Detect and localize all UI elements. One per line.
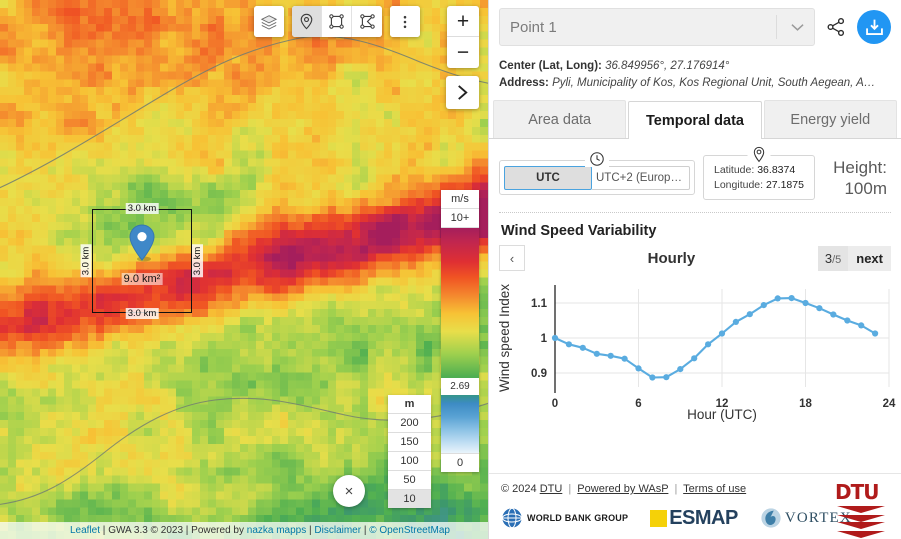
wind-legend-pointer: 2.69 [441, 378, 479, 395]
svg-text:6: 6 [635, 398, 641, 410]
layers-icon [260, 13, 278, 31]
panel-tabs: Area data Temporal data Energy yield [489, 100, 901, 139]
latitude-value: 36.8374 [757, 164, 795, 176]
latitude-label: Latitude: [714, 164, 754, 176]
layers-button[interactable] [254, 6, 284, 37]
height-label: Height: [833, 157, 887, 178]
map-marker-icon[interactable] [129, 224, 155, 267]
dtu-logo-label: DTU [835, 482, 887, 502]
zoom-controls: + − [447, 6, 479, 68]
dtu-link[interactable]: DTU [540, 483, 563, 495]
center-line: Center (Lat, Long): 36.849956°, 27.17691… [499, 58, 891, 75]
svg-text:Wind speed Index: Wind speed Index [497, 284, 512, 392]
place-point-button[interactable] [292, 6, 322, 37]
elevation-option-100[interactable]: 100 [388, 452, 431, 471]
more-options-group [390, 6, 420, 37]
rectangle-select-button[interactable] [322, 6, 352, 37]
selection-edge-bottom-label: 3.0 km [126, 308, 159, 319]
tab-area-data[interactable]: Area data [493, 100, 626, 138]
wind-legend-min: 0 [441, 453, 479, 472]
attr-sep-1: | [100, 525, 108, 536]
share-icon [826, 17, 846, 37]
pager-next-label: next [848, 246, 891, 271]
wind-legend-unit: m/s [441, 190, 479, 209]
selection-edge-left-label: 3.0 km [81, 245, 92, 278]
download-icon [864, 17, 885, 38]
tab-energy-yield[interactable]: Energy yield [764, 100, 897, 138]
elevation-option-150[interactable]: 150 [388, 433, 431, 452]
wind-speed-legend: m/s 10+ 2.69 0 [441, 190, 479, 472]
elevation-option-10[interactable]: 10 [388, 490, 431, 508]
center-value: 36.849956°, 27.176914° [605, 60, 729, 72]
app-root: 3.0 km 3.0 km 3.0 km 3.0 km 9.0 km² [0, 0, 901, 539]
dtu-bars-icon [835, 504, 887, 538]
attribution-powered-prefix: Powered by [191, 525, 247, 536]
polygon-select-button[interactable] [352, 6, 382, 37]
timezone-utc-button[interactable]: UTC [504, 166, 592, 190]
selection-area-label: 9.0 km² [122, 273, 163, 285]
copyright-line: © 2024 DTU | Powered by WAsP | Terms of … [501, 483, 889, 495]
layers-control-group [254, 6, 284, 37]
elevation-option-200[interactable]: 200 [388, 414, 431, 433]
map-attribution: Leaflet | GWA 3.3 © 2023 | Powered by na… [0, 522, 488, 539]
attribution-nazka-link[interactable]: nazka mapps [247, 525, 306, 536]
footer-sep-1: | [568, 483, 571, 495]
draw-tools-group [292, 6, 382, 37]
point-select-value: Point 1 [510, 19, 557, 36]
esmap-logo[interactable]: ESMAP [650, 507, 738, 530]
address-value: Pyli, Municipality of Kos, Kos Regional … [552, 77, 875, 89]
attribution-gwa: GWA 3.3 © 2023 [108, 525, 183, 536]
pager-next-button[interactable]: 3/5 next [818, 246, 891, 271]
wind-legend-max: 10+ [441, 209, 479, 228]
close-button[interactable]: × [333, 475, 365, 507]
timezone-local-button[interactable]: UTC+2 (Europ…) [592, 166, 690, 190]
longitude-label: Longitude: [714, 179, 763, 191]
timezone-coords-row: UTC UTC+2 (Europ…) Latitude: 36.8374 Lon… [489, 139, 901, 208]
selection-edge-top-label: 3.0 km [126, 203, 159, 214]
svg-text:24: 24 [883, 398, 896, 410]
timezone-fieldset: UTC UTC+2 (Europ…) [499, 160, 695, 195]
selection-edge-right-label: 3.0 km [193, 245, 204, 278]
point-select[interactable]: Point 1 [499, 8, 815, 46]
svg-text:18: 18 [799, 398, 812, 410]
partner-logos: WORLD BANK GROUP ESMAP VORTEX [501, 503, 889, 533]
center-label: Center (Lat, Long): [499, 60, 602, 72]
wind-speed-variability-chart: 0.911.106121824Hour (UTC)Wind speed Inde… [493, 275, 897, 425]
zoom-out-button[interactable]: − [447, 37, 479, 68]
rectangle-select-icon [328, 13, 345, 30]
pager-title: Hourly [525, 250, 818, 267]
polygon-select-icon [359, 13, 376, 30]
copyright-year: © 2024 [501, 483, 537, 495]
world-bank-group-logo[interactable]: WORLD BANK GROUP [501, 507, 628, 529]
pager-count: 3/5 [818, 246, 848, 271]
wind-legend-gradient: 2.69 [441, 228, 479, 453]
map-controls [254, 6, 420, 37]
clock-icon [585, 151, 609, 167]
chart-pager: ‹ Hourly 3/5 next [489, 243, 901, 271]
footer-sep-2: | [674, 483, 677, 495]
svg-text:1.1: 1.1 [531, 298, 548, 310]
chart-svg: 0.911.106121824Hour (UTC)Wind speed Inde… [493, 275, 898, 423]
kebab-menu-icon [397, 14, 413, 30]
chevron-right-icon [455, 84, 470, 101]
attr-sep-4: | [361, 525, 369, 536]
attribution-leaflet-link[interactable]: Leaflet [70, 525, 100, 536]
attr-sep-2: | [183, 525, 191, 536]
dtu-logo[interactable]: DTU [835, 482, 887, 539]
chevron-down-icon[interactable] [776, 15, 804, 39]
section-title: Wind Speed Variability [489, 213, 901, 243]
terms-of-use-link[interactable]: Terms of use [683, 483, 746, 495]
share-button[interactable] [823, 14, 849, 40]
panel-footer: © 2024 DTU | Powered by WAsP | Terms of … [489, 473, 901, 539]
marker-icon [298, 13, 315, 30]
vortex-mark-icon [760, 507, 782, 529]
side-panel: Point 1 [488, 0, 901, 539]
panel-toggle-button[interactable] [446, 76, 479, 109]
elevation-legend: m 200 150 100 50 10 [388, 395, 431, 508]
pager-total: 5 [835, 254, 841, 266]
world-bank-group-label: WORLD BANK GROUP [527, 513, 628, 523]
longitude-value: 27.1875 [766, 179, 804, 191]
svg-text:1: 1 [541, 333, 548, 345]
esmap-mark-icon [650, 510, 667, 527]
svg-text:0: 0 [552, 398, 558, 410]
coordinates-values: Latitude: 36.8374 Longitude: 27.1875 [708, 161, 810, 195]
zoom-in-button[interactable]: + [447, 6, 479, 37]
tab-temporal-data[interactable]: Temporal data [628, 101, 761, 139]
elevation-legend-unit: m [388, 395, 431, 414]
svg-text:0.9: 0.9 [531, 368, 547, 380]
address-line: Address: Pyli, Municipality of Kos, Kos … [499, 75, 891, 92]
selection-rectangle[interactable]: 3.0 km 3.0 km 3.0 km 3.0 km 9.0 km² [92, 209, 192, 313]
location-pin-icon [747, 146, 770, 163]
coordinates-fieldset: Latitude: 36.8374 Longitude: 27.1875 [703, 155, 815, 200]
height-value: 100m [833, 178, 887, 199]
attribution-osm-link[interactable]: © OpenStreetMap [369, 525, 450, 536]
world-bank-globe-icon [501, 507, 523, 529]
map-canvas[interactable]: 3.0 km 3.0 km 3.0 km 3.0 km 9.0 km² [0, 0, 488, 539]
esmap-label: ESMAP [669, 507, 738, 530]
svg-text:Hour (UTC): Hour (UTC) [687, 407, 757, 422]
wasp-link[interactable]: Powered by WAsP [577, 483, 668, 495]
kebab-menu-button[interactable] [390, 6, 420, 37]
pager-prev-button[interactable]: ‹ [499, 245, 525, 271]
pager-current: 3 [825, 251, 832, 266]
download-button[interactable] [857, 10, 891, 44]
elevation-option-50[interactable]: 50 [388, 471, 431, 490]
address-label: Address: [499, 77, 549, 89]
height-display: Height: 100m [833, 157, 891, 199]
attribution-disclaimer-link[interactable]: Disclaimer [314, 525, 361, 536]
point-metadata: Center (Lat, Long): 36.849956°, 27.17691… [489, 52, 901, 100]
point-header: Point 1 [489, 0, 901, 52]
